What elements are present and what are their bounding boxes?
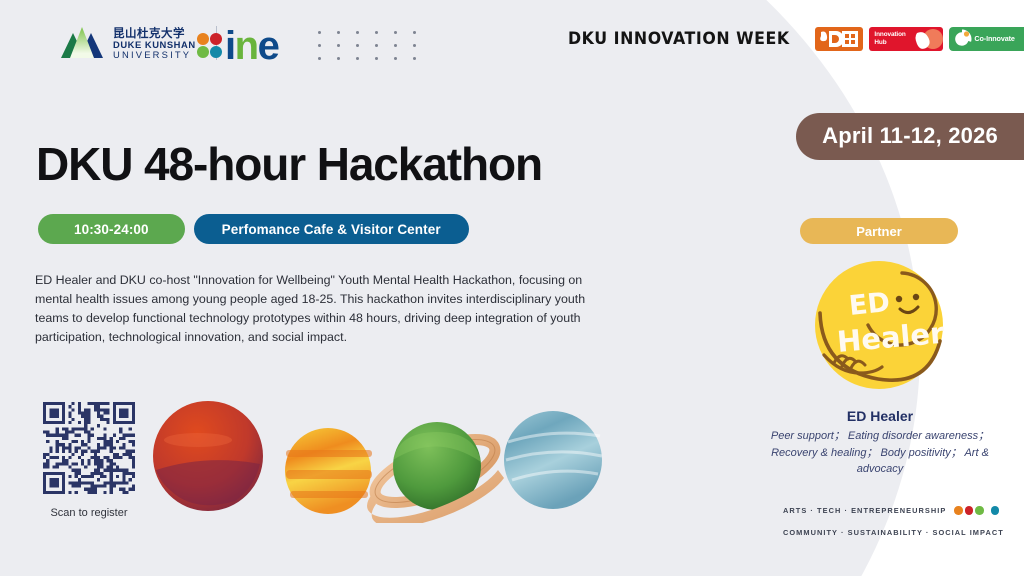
innovation-week-header: DKU INNOVATION WEEK Innovation Hub [568, 27, 1024, 51]
duke-kunshan-wordmark: 昆山杜克大学 DUKE KUNSHAN UNIVERSITY [113, 27, 196, 60]
innovation-week-wordmark: DKU INNOVATION WEEK [568, 29, 790, 49]
tagline-line-2: COMMUNITY · SUSTAINABILITY · SOCIAL IMPA… [783, 528, 1004, 537]
event-description: ED Healer and DKU co-host "Innovation fo… [35, 271, 620, 347]
co-innovate-badge[interactable]: Co-Innovate [949, 27, 1024, 51]
ine-letter-i: i [225, 24, 235, 68]
ine-dot-cluster-icon [197, 33, 223, 59]
date-badge: April 11-12, 2026 [796, 113, 1024, 160]
university-name-cn: 昆山杜克大学 [113, 27, 196, 39]
ine-wordmark: ine [225, 26, 278, 66]
qr-block: Scan to register [43, 402, 135, 519]
ed-logo-text-1: ED [847, 287, 891, 322]
blue-planet [504, 411, 602, 509]
decorative-dot-grid [318, 31, 432, 70]
ed-healer-logo: ED Healer [806, 259, 952, 391]
innovation-hub-label: Innovation Hub [869, 31, 905, 46]
partner-tags: Peer support； Eating disorder awareness；… [766, 428, 994, 478]
ine-letter-e: e [258, 24, 279, 68]
mountain-logo-icon [60, 26, 104, 60]
poster-canvas: 昆山杜克大学 DUKE KUNSHAN UNIVERSITY ine DKU I… [0, 0, 1024, 576]
brand-badge-group: Innovation Hub Co-Innovate Beyond [815, 27, 1024, 51]
tagline-dot-icons [954, 506, 999, 515]
tagline-line-1: ARTS · TECH · ENTREPRENEURSHIP [783, 506, 946, 515]
event-time-badge: 10:30-24:00 [38, 214, 185, 244]
footer-tagline: ARTS · TECH · ENTREPRENEURSHIP COMMUNITY… [783, 506, 1013, 540]
partner-badge: Partner [800, 218, 958, 244]
ine-logo: ine [197, 26, 278, 66]
dh-badge[interactable] [815, 27, 863, 51]
co-innovate-label: Co-Innovate [949, 35, 1014, 43]
yellow-planet [285, 428, 372, 514]
innovation-hub-badge[interactable]: Innovation Hub [869, 27, 943, 51]
green-ringed-planet [367, 422, 504, 523]
partner-name: ED Healer [780, 408, 980, 424]
qr-code-icon[interactable] [43, 402, 135, 494]
page-title: DKU 48-hour Hackathon [36, 137, 542, 191]
ine-letter-n: n [235, 24, 258, 68]
event-meta-row: 10:30-24:00 Perfomance Cafe & Visitor Ce… [38, 214, 469, 244]
university-name-en-2: UNIVERSITY [113, 50, 196, 60]
planet-illustrations [150, 398, 620, 523]
event-location-badge: Perfomance Cafe & Visitor Center [194, 214, 469, 244]
qr-caption: Scan to register [43, 507, 135, 519]
red-planet [153, 401, 263, 511]
